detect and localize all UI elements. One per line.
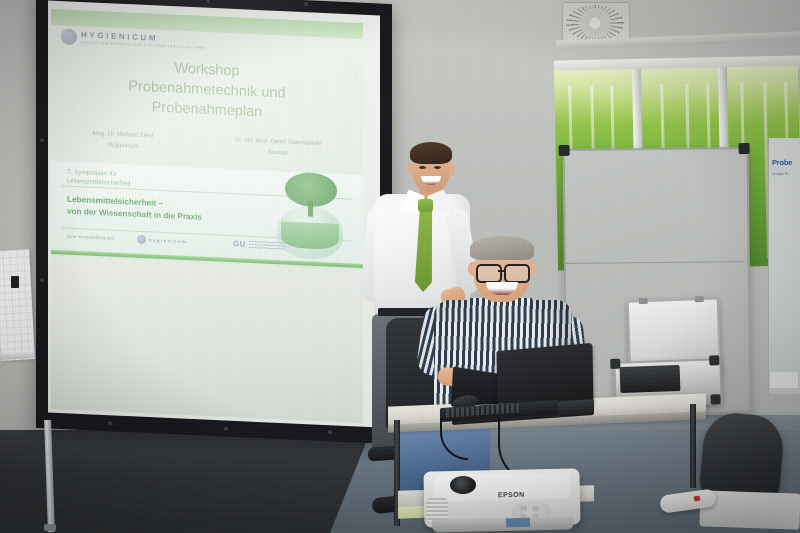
- standing-man-tie-knot: [418, 199, 433, 212]
- flight-case-contents: [620, 365, 681, 393]
- tree-crown-icon: [285, 172, 337, 208]
- organizer-logo-icon: [137, 235, 146, 244]
- power-strip-switch[interactable]: [694, 496, 701, 502]
- vent-disc-icon: [580, 8, 610, 38]
- flipchart-clip: [11, 276, 19, 288]
- logo-sphere-icon: [61, 28, 77, 45]
- standing-man-hair: [410, 142, 452, 164]
- banner-subtitle: Analytik Pr...: [772, 172, 800, 177]
- projector-brand-label: EPSON: [498, 492, 525, 500]
- speaker-right: Dr. vet. Med. Dieter Stanislawski Stanla…: [207, 134, 349, 162]
- projection-screen-blank-area: [51, 257, 363, 423]
- seated-man-hair: [470, 236, 534, 260]
- partner-logo-word: GU: [233, 239, 246, 249]
- hygienicum-logo: HYGIENICUM INSTITUT FÜR MIKROBIOLOGIE & …: [61, 28, 191, 52]
- seated-man-glasses-right-lens: [504, 264, 530, 283]
- projector-button[interactable]: [520, 506, 527, 511]
- seated-man-glasses-left-lens: [476, 264, 502, 283]
- table-leg: [690, 404, 696, 488]
- event-name: 7. Symposium für Lebensmittelsicherheit: [67, 168, 131, 189]
- speaker-left: Mag. Dr. Michael Stebl Hygienicum: [63, 127, 183, 154]
- banner-base: [770, 372, 798, 388]
- flipchart-grid-lines: [0, 249, 35, 361]
- slide-title: Workshop Probenahmetechnik und Probenahm…: [51, 53, 363, 127]
- projected-slide: HYGIENICUM INSTITUT FÜR MIKROBIOLOGIE & …: [51, 9, 363, 271]
- photo-scene: HYGIENICUM INSTITUT FÜR MIKROBIOLOGIE & …: [0, 0, 800, 533]
- seated-man-glasses-bridge: [498, 270, 506, 272]
- projector-lens-housing: [506, 518, 530, 528]
- banner-title: Probe: [772, 158, 800, 167]
- screen-leg-foot: [44, 524, 56, 531]
- globe-grass: [281, 221, 339, 250]
- standing-man-eye-left: [419, 166, 426, 169]
- standing-man-eye-right: [434, 166, 441, 169]
- projector-button[interactable]: [532, 506, 539, 511]
- partner-logo-lines: [249, 241, 285, 251]
